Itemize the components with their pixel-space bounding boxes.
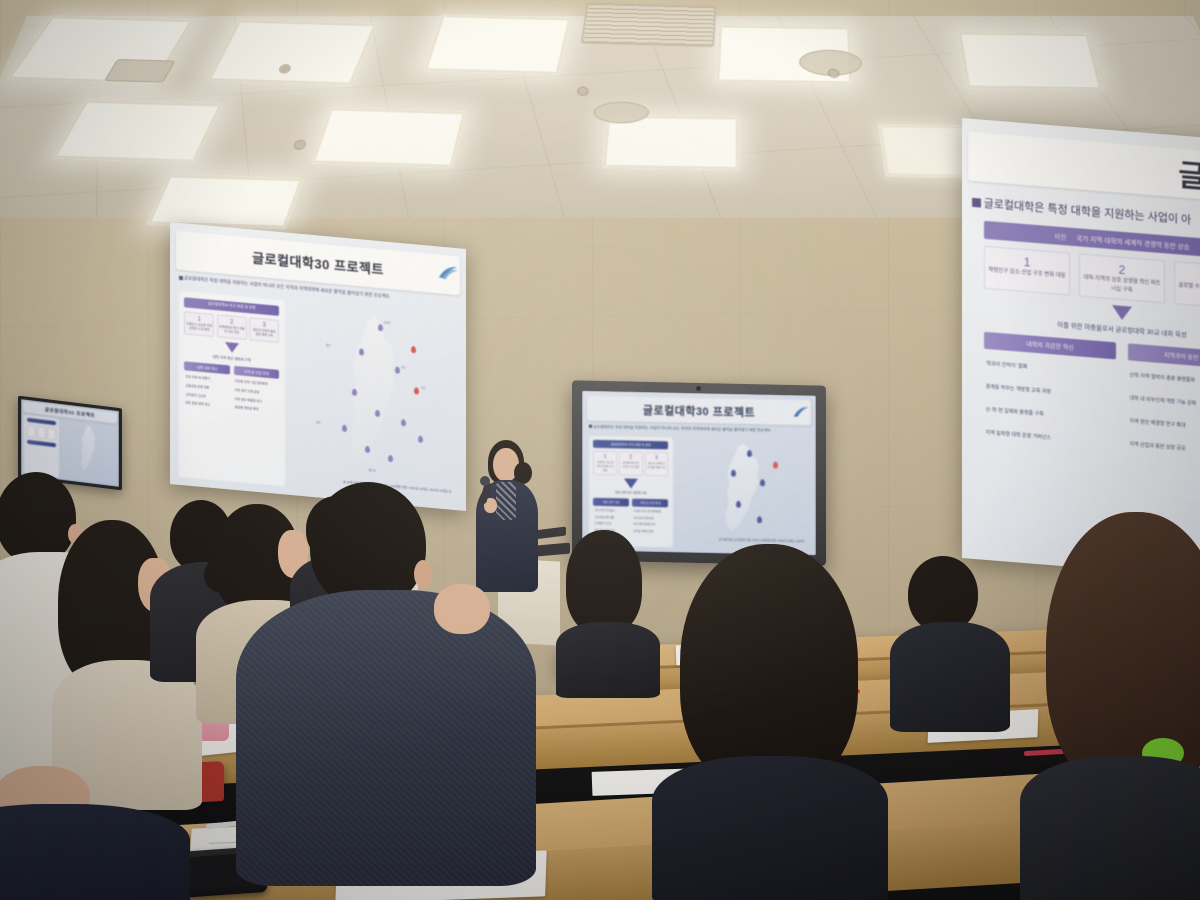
map-pin <box>352 389 357 396</box>
bullet-icon <box>589 425 592 428</box>
slide-item <box>37 426 46 439</box>
audience-body <box>236 590 536 886</box>
ceiling-light-panel <box>423 14 572 74</box>
ceiling-light-panel <box>311 107 467 168</box>
audience-member <box>646 544 886 900</box>
audience-hair <box>680 544 858 790</box>
slide-list-left: 학과·학부 벽 허물기 교육과정 전면 개편 산학협력 고도화 대학 운영 체계… <box>184 371 229 414</box>
slide-title: 글로컬대학30 프로젝트 <box>45 406 95 418</box>
map-label: 부산 <box>421 385 426 389</box>
slide-title: 글로컬 <box>1179 151 1200 202</box>
slide-list-right: 산학·지역 협력의 총괄 플랫폼화 대학 내 외부인재 개방 기능 강화 지역 … <box>1128 361 1200 472</box>
audience-body <box>0 804 190 900</box>
slide-pill-tag: 비전 <box>1055 234 1067 242</box>
audience-head <box>908 556 978 632</box>
slide-right-column: 총 30개 내외 글로컬대학 지정, 5년간 1,000억원 지원 / 2023… <box>679 437 809 550</box>
map-pin <box>378 324 383 331</box>
audience-bun <box>204 558 234 592</box>
map-pin <box>414 387 419 394</box>
slide-title: 글로컬대학30 프로젝트 <box>252 247 384 278</box>
audience-member-partial <box>0 758 220 900</box>
ceiling-light-panel <box>206 20 377 86</box>
bullet-icon <box>179 276 183 280</box>
slide-three-items <box>27 425 57 441</box>
slide-pill <box>27 418 57 426</box>
slide-box-left: 대학의 과감한 혁신 '학과의 칸막이' 철폐 경계를 허무는 개방형 교육 과… <box>984 332 1117 460</box>
map-pin <box>388 455 393 462</box>
ceiling-light-panel <box>958 32 1104 91</box>
audience-body <box>890 622 1010 732</box>
slide-item: 1 학령인구 감소·산업 구조 변화 대응 <box>984 246 1071 296</box>
slide-pill-label: 국가·지역·대학의 세계적 경쟁력 동반 상승 <box>1076 235 1189 251</box>
audience-body <box>652 756 888 900</box>
slide-list-left: '학과의 칸막이' 철폐 경계를 허무는 개방형 교육 과정 산·학·연 일체화… <box>984 349 1117 460</box>
audience-member-foreground <box>258 482 538 882</box>
slide-item-text: 글로벌 수준의 지역·대학 동반 성장 모델 구현 <box>1178 282 1200 306</box>
slide-item: 3 대학과 지역의 동반 성장 체계 구축 <box>249 317 279 342</box>
slide-item <box>47 427 56 440</box>
slide-box-header <box>27 440 57 448</box>
slide-item: 2 지역대학의 위기 극복과 혁신 필요 <box>619 452 642 476</box>
slide-box-right: 지역과의 동반 성장 혁신 산학·지역 협력의 총괄 플랫폼화 대학 내 외부인… <box>1128 344 1200 472</box>
slide-title-bar: 글로컬대학30 프로젝트 <box>587 395 812 425</box>
slide-box-right: 지역 및 산업 연계 지자체·지역 기업 협력체계 지역 정주 인재 양성 지역… <box>234 365 279 418</box>
ceiling-air-vent <box>104 59 176 83</box>
seminar-room-photo: 글로컬대학30 프로젝트 글로컬대학은 특정 대학을 지원하는 사업이 아니라 … <box>0 0 1200 900</box>
map-pin <box>773 461 778 468</box>
map-pin <box>375 409 380 416</box>
audience-hair <box>566 530 642 634</box>
down-arrow-icon <box>1112 306 1132 322</box>
slide-item-text: 대학과 지역의 동반 성장 체계 구축 <box>251 327 277 338</box>
slide-three-items: 1 학령인구 감소와 지역 산업의 구조 변화 2 지역대학의 위기 극복과 혁… <box>593 451 668 477</box>
map-label: 광주 <box>316 421 321 425</box>
slide-left: 글로컬대학30 프로젝트 글로컬대학은 특정 대학을 지원하는 사업이 아니라 … <box>170 222 466 511</box>
ministry-of-education-logo <box>437 265 459 283</box>
map-pin <box>747 450 752 457</box>
map-pin <box>401 419 406 426</box>
list-item: 지역 산업과 동반 성장 공유 <box>1130 434 1200 467</box>
slide-headline-text: 글로컬대학은 특정 대학을 지원하는 사업이 아니라 모든 지역과 지역대학에 … <box>593 424 771 432</box>
down-arrow-icon <box>624 479 638 489</box>
audience-member <box>556 530 660 690</box>
slide-three-items: 1 학령인구 감소와 지역 산업의 구조 변화 2 지역대학의 위기 극복과 혁… <box>184 311 279 342</box>
map-pin <box>411 346 416 353</box>
slide-converge-text: 대학-지역 혁신 생태계 구축 <box>593 490 668 496</box>
slide-item: 2 대학-지역의 상호 상생형 혁신 파트너십 구축 <box>1079 254 1166 304</box>
south-korea-map <box>710 442 772 534</box>
audience-hands <box>434 584 490 634</box>
ceiling-light-panel <box>146 174 304 229</box>
slide-title: 글로컬대학30 프로젝트 <box>643 401 755 419</box>
slide-headline-text: 글로컬대학은 특정 대학을 지원하는 사업이 아 <box>984 198 1192 227</box>
map-label: 대전 <box>326 343 331 347</box>
map-pin <box>359 348 364 355</box>
map-label: 제주권 <box>368 468 375 473</box>
slide-left-column <box>24 415 59 478</box>
map-label: 대구 <box>401 365 406 369</box>
map-pin <box>342 425 347 432</box>
fire-sprinkler <box>579 88 587 95</box>
slide-list-right: 지자체·지역 기업 협력체계 지역 정주 인재 양성 지역 현안 해결형 연구 … <box>234 375 279 418</box>
south-korea-map <box>75 423 101 474</box>
fire-sprinkler <box>829 70 838 77</box>
slide-headline: 글로컬대학은 특정 대학을 지원하는 사업이 아니라 모든 지역과 지역대학에 … <box>589 424 809 434</box>
slide-item-text: 대학과 지역의 동반 성장 체계 구축 <box>647 461 666 469</box>
slide-item: 1 학령인구 감소와 지역 산업의 구조 변화 <box>593 451 616 475</box>
audience-ear <box>414 560 432 588</box>
slide-item: 3 대학과 지역의 동반 성장 체계 구축 <box>645 452 668 476</box>
slide-box-left: 대학 내부 혁신 학과·학부 벽 허물기 교육과정 전면 개편 산학협력 고도화… <box>184 361 229 414</box>
map-pin <box>418 435 423 442</box>
slide-two-boxes: 대학 내부 혁신 학과·학부 벽 허물기 교육과정 전면 개편 산학협력 고도화… <box>184 361 279 418</box>
audience-member <box>1020 512 1200 900</box>
slide-item: 2 지역대학의 위기 극복과 혁신 필요 <box>217 314 247 339</box>
map-label: 강원권 <box>383 321 390 326</box>
slide-left-column: 글로컬대학30 추진 배경 및 방향 1 학령인구 감소와 지역 산업의 구조 … <box>179 291 285 487</box>
south-korea-map <box>332 312 411 472</box>
audience-body <box>1020 756 1200 900</box>
slide-pill: 글로컬대학30 추진 배경 및 방향 <box>593 440 668 450</box>
tv-camera-icon <box>696 386 701 391</box>
map-pin <box>395 366 400 373</box>
left-projection-screen: 글로컬대학30 프로젝트 글로컬대학은 특정 대학을 지원하는 사업이 아니라 … <box>170 222 466 511</box>
ministry-of-education-logo <box>792 406 810 419</box>
bullet-icon <box>972 198 981 208</box>
slide-item <box>27 425 36 438</box>
slide-two-boxes: 대학의 과감한 혁신 '학과의 칸막이' 철폐 경계를 허무는 개방형 교육 과… <box>984 332 1200 471</box>
ceiling-air-vent <box>581 2 717 47</box>
slide-item-text: 학령인구 감소와 지역 산업의 구조 변화 <box>186 321 212 332</box>
slide-item-text: 지역대학의 위기 극복과 혁신 필요 <box>219 324 245 335</box>
slide-item: 1 학령인구 감소와 지역 산업의 구조 변화 <box>184 311 214 336</box>
slide-three-items: 1 학령인구 감소·산업 구조 변화 대응 2 대학-지역의 상호 상생형 혁신… <box>984 246 1200 312</box>
slide-item: 3 글로벌 수준의 지역·대학 동반 성장 모델 구현 <box>1174 261 1200 311</box>
slide-right-column: 강원권 대전 대구 부산 광주 제주권 총 30개 내외 글로컬대학 지정, 5… <box>293 301 457 502</box>
slide-title-bar: 글로컬 <box>968 132 1200 205</box>
slide-item-text: 학령인구 감소와 지역 산업의 구조 변화 <box>595 460 614 472</box>
map-pin <box>760 479 765 486</box>
audience-member <box>890 556 1010 726</box>
map-pin <box>731 469 736 476</box>
map-pin <box>757 516 762 523</box>
audience-body <box>556 622 660 698</box>
down-arrow-icon <box>225 342 239 353</box>
slide-item-text: 지역대학의 위기 극복과 혁신 필요 <box>621 461 640 469</box>
slide-body: 글로컬대학30 추진 배경 및 방향 1 학령인구 감소와 지역 산업의 구조 … <box>179 291 457 502</box>
